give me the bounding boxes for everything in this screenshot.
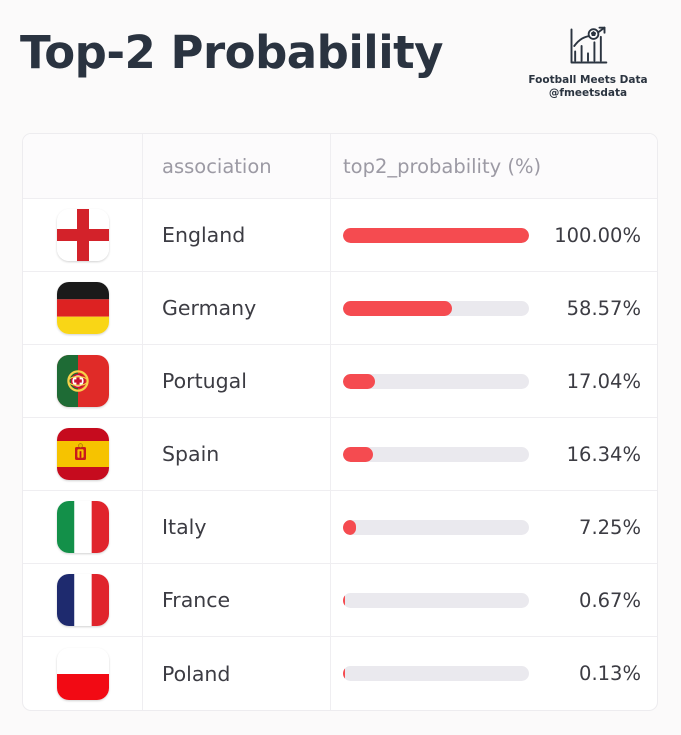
germany-flag-icon (57, 282, 109, 334)
cell-association: Poland (143, 637, 331, 710)
association-label: Portugal (162, 369, 247, 393)
portugal-flag-icon (57, 355, 109, 407)
probability-bar-track (343, 374, 529, 389)
brand-name: Football Meets Data (513, 74, 663, 87)
table-header-row: association top2_probability (%) (23, 134, 657, 199)
association-label: England (162, 223, 245, 247)
italy-flag-icon (57, 501, 109, 553)
probability-value: 7.25% (537, 516, 641, 539)
header: Top-2 Probability Football Meets Data (0, 0, 681, 118)
cell-flag (23, 272, 143, 344)
association-label: Spain (162, 442, 219, 466)
header-cell-association: association (143, 134, 331, 198)
probability-bar-track (343, 447, 529, 462)
probability-value: 58.57% (537, 297, 641, 320)
cell-association: Germany (143, 272, 331, 344)
brand-handle: @fmeetsdata (513, 87, 663, 100)
cell-association: France (143, 564, 331, 636)
cell-probability: 7.25% (331, 491, 657, 563)
cell-association: Portugal (143, 345, 331, 417)
cell-probability: 16.34% (331, 418, 657, 490)
probability-table: association top2_probability (%) England… (22, 133, 658, 711)
probability-bar-track (343, 520, 529, 535)
cell-flag (23, 564, 143, 636)
probability-bar-track (343, 228, 529, 243)
header-cell-flag (23, 134, 143, 198)
poland-flag-icon (57, 648, 109, 700)
association-label: Poland (162, 662, 230, 686)
probability-value: 0.13% (537, 662, 641, 685)
table-row: Portugal17.04% (23, 345, 657, 418)
spain-flag-icon (57, 428, 109, 480)
cell-probability: 58.57% (331, 272, 657, 344)
bar-chart-football-icon (566, 24, 610, 68)
france-flag-icon (57, 574, 109, 626)
cell-flag (23, 345, 143, 417)
table-row: England100.00% (23, 199, 657, 272)
probability-bar-fill (343, 228, 529, 243)
page-title: Top-2 Probability (20, 26, 443, 79)
cell-flag (23, 637, 143, 710)
england-flag-icon (57, 209, 109, 261)
probability-bar-fill (343, 301, 452, 316)
probability-bar-fill (343, 520, 356, 535)
probability-value: 100.00% (537, 224, 641, 247)
column-header-probability: top2_probability (%) (343, 155, 541, 178)
cell-probability: 0.13% (331, 637, 657, 710)
probability-bar-track (343, 301, 529, 316)
probability-bar-fill (343, 447, 373, 462)
cell-association: England (143, 199, 331, 271)
page-root: Top-2 Probability Football Meets Data (0, 0, 681, 735)
cell-flag (23, 199, 143, 271)
association-label: Italy (162, 515, 206, 539)
probability-bar-track (343, 593, 529, 608)
cell-flag (23, 418, 143, 490)
table-row: Spain16.34% (23, 418, 657, 491)
column-header-association: association (162, 155, 272, 178)
table-body: England100.00% Germany58.57% Portugal17.… (23, 199, 657, 710)
table-row: Poland0.13% (23, 637, 657, 710)
probability-bar-fill (343, 593, 345, 608)
cell-association: Italy (143, 491, 331, 563)
table-row: France0.67% (23, 564, 657, 637)
cell-flag (23, 491, 143, 563)
header-cell-probability: top2_probability (%) (331, 134, 657, 198)
cell-probability: 0.67% (331, 564, 657, 636)
probability-value: 16.34% (537, 443, 641, 466)
probability-bar-track (343, 666, 529, 681)
cell-probability: 17.04% (331, 345, 657, 417)
table-row: Italy7.25% (23, 491, 657, 564)
probability-value: 0.67% (537, 589, 641, 612)
association-label: France (162, 588, 230, 612)
association-label: Germany (162, 296, 256, 320)
probability-value: 17.04% (537, 370, 641, 393)
cell-association: Spain (143, 418, 331, 490)
probability-bar-fill (343, 374, 375, 389)
probability-bar-fill (343, 666, 345, 681)
cell-probability: 100.00% (331, 199, 657, 271)
table-row: Germany58.57% (23, 272, 657, 345)
brand-block: Football Meets Data @fmeetsdata (513, 24, 663, 100)
